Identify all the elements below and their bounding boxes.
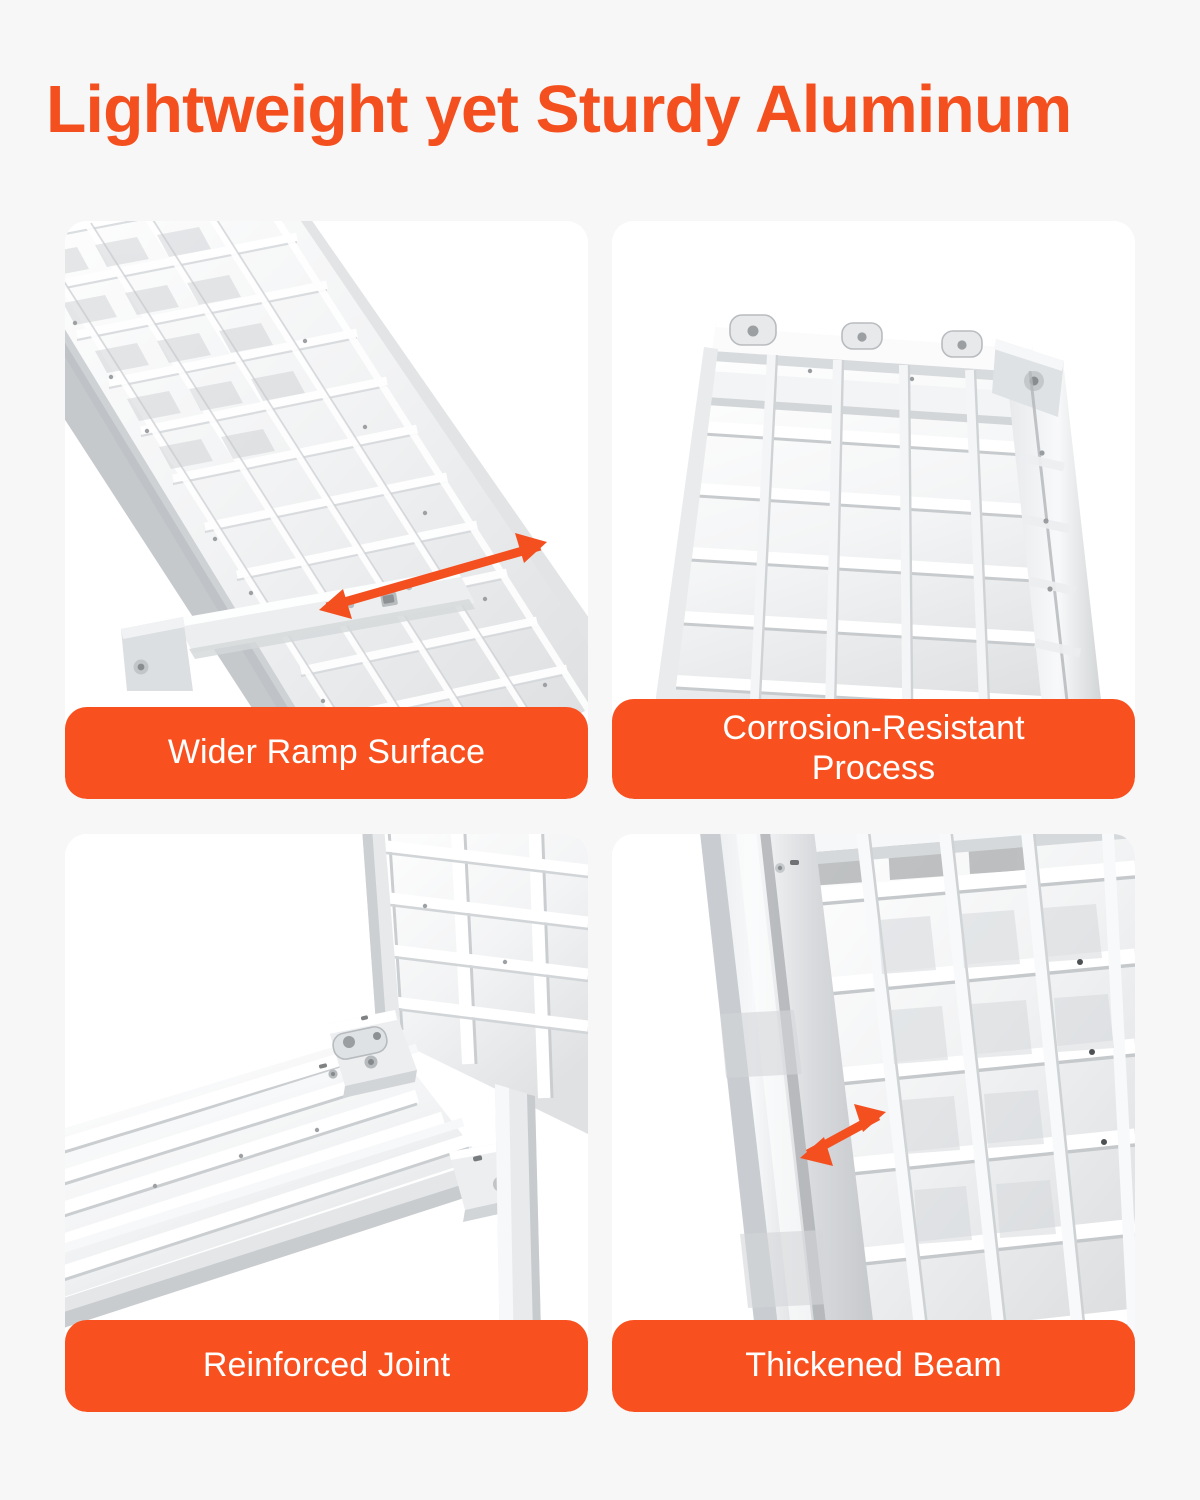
feature-caption-reinforced-joint: Reinforced Joint: [65, 1320, 588, 1412]
caption-line: Process: [722, 749, 1024, 789]
feature-grid: Wider Ramp Surface: [65, 221, 1135, 1435]
feature-card-reinforced-joint[interactable]: Reinforced Joint: [65, 834, 588, 1412]
infographic-page: Lightweight yet Sturdy Aluminum: [0, 0, 1200, 1500]
caption-line: Corrosion-Resistant: [722, 709, 1024, 749]
feature-card-wider-ramp-surface[interactable]: Wider Ramp Surface: [65, 221, 588, 799]
feature-caption-wider-ramp-surface: Wider Ramp Surface: [65, 707, 588, 799]
feature-caption-corrosion-resistant-process: Corrosion-Resistant Process: [612, 699, 1135, 799]
caption-line: Reinforced Joint: [203, 1346, 450, 1386]
page-title: Lightweight yet Sturdy Aluminum: [46, 76, 1149, 143]
feature-card-corrosion-resistant-process[interactable]: Corrosion-Resistant Process: [612, 221, 1135, 799]
feature-card-thickened-beam[interactable]: Thickened Beam: [612, 834, 1135, 1412]
feature-caption-thickened-beam: Thickened Beam: [612, 1320, 1135, 1412]
caption-line: Wider Ramp Surface: [168, 733, 485, 773]
caption-line: Thickened Beam: [745, 1346, 1002, 1386]
